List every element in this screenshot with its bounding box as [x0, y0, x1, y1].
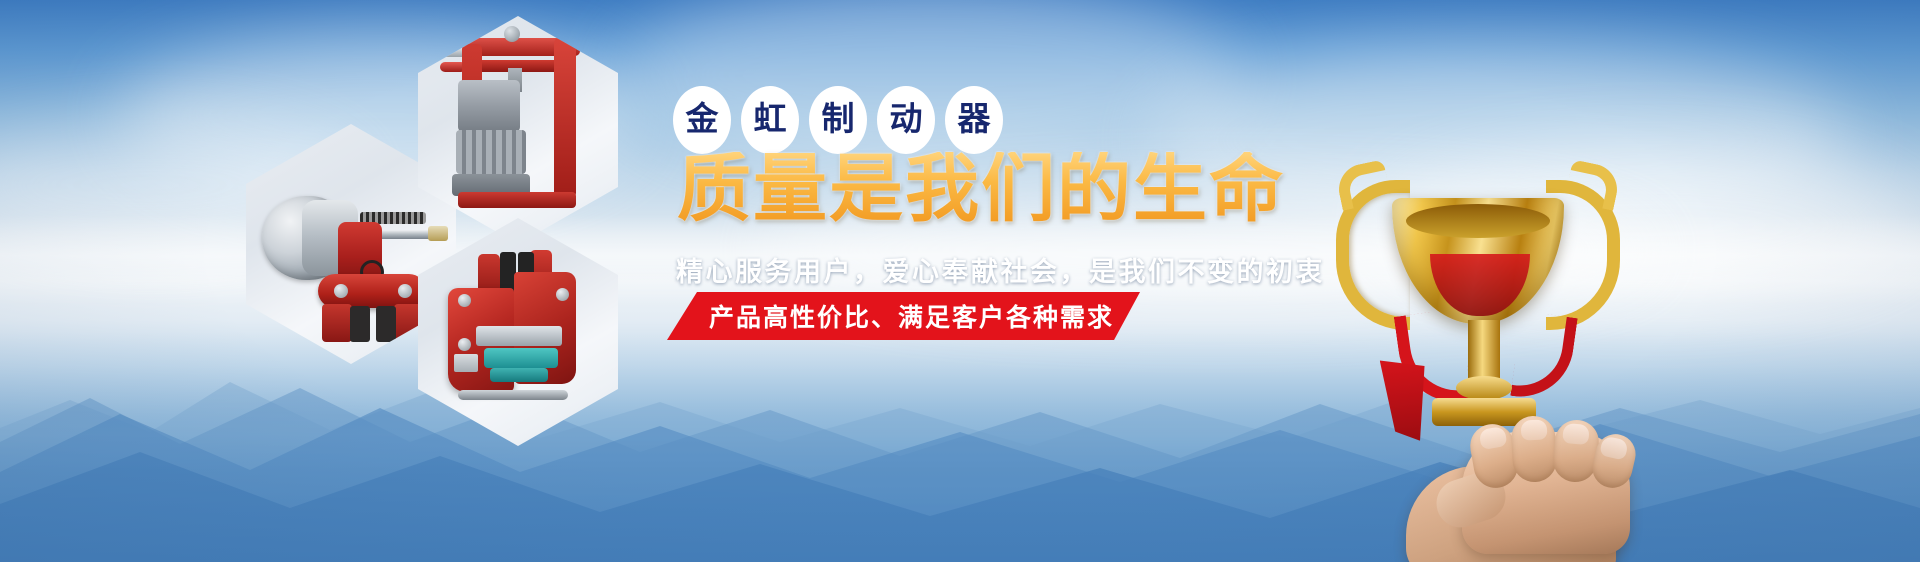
brand-char: 制	[809, 86, 867, 154]
brand-char: 器	[945, 86, 1003, 154]
promo-banner: 金 虹 制 动 器 质量是我们的生命 质量是我们的生命 精心服务用户，爱心奉献社…	[0, 0, 1920, 562]
brand-char: 金	[673, 86, 731, 154]
trophy-ribbon-right	[1510, 311, 1577, 404]
ribbon-text: 产品高性价比、满足客户各种需求	[709, 298, 1114, 334]
award-trophy	[1280, 162, 1710, 562]
ribbon-banner: 产品高性价比、满足客户各种需求	[667, 292, 1140, 340]
hands-holding-trophy	[1376, 410, 1666, 562]
fingernail	[1562, 423, 1590, 445]
subtitle: 精心服务用户，爱心奉献社会，是我们不变的初衷	[676, 250, 1325, 289]
trophy-knot	[1456, 376, 1512, 400]
fingernail	[1520, 419, 1547, 440]
brand-name: 金 虹 制 动 器	[673, 86, 1003, 154]
brand-char: 动	[877, 86, 935, 154]
product-hex-cluster	[228, 4, 648, 444]
trophy-cup-rim	[1406, 204, 1550, 238]
brand-char: 虹	[741, 86, 799, 154]
headline: 质量是我们的生命	[677, 152, 1285, 226]
